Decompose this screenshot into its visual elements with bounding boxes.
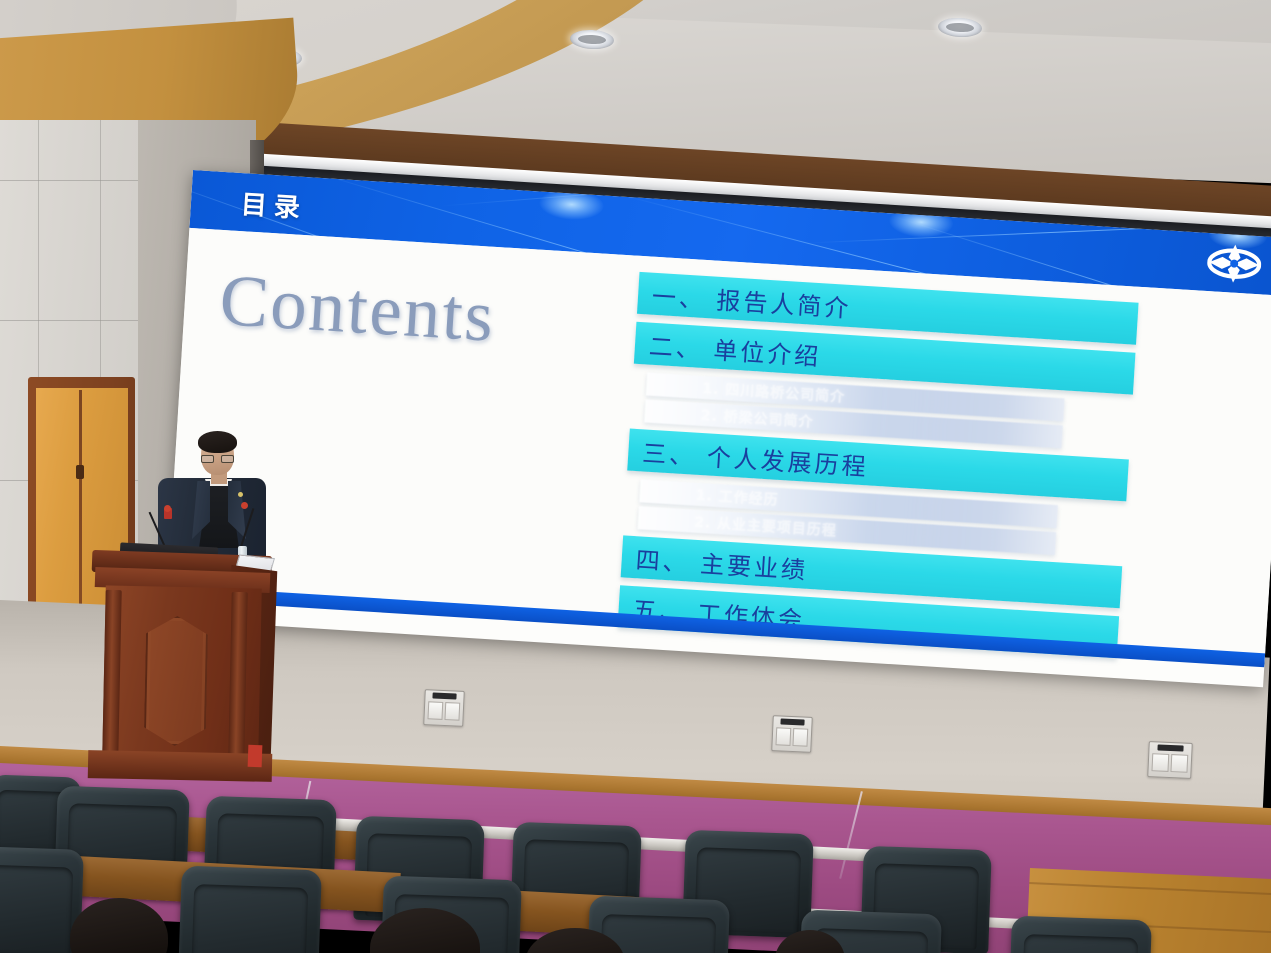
microphone-head (164, 505, 171, 512)
wall-outlet-panel[interactable] (423, 689, 465, 727)
door-handle[interactable] (76, 465, 84, 479)
toc-subitem-label: 2. 桥梁公司简介 (644, 401, 814, 431)
conference-hall-photo: 目录 Contents 一、 报告人简介 二、 单位介 (0, 0, 1271, 953)
auditorium-seat[interactable] (178, 866, 322, 953)
toc-subitem-label: 1. 工作经历 (639, 481, 779, 510)
contents-heading: Contents (217, 258, 497, 359)
lectern-hex-panel (144, 615, 209, 746)
toc-item-label: 四、 主要业绩 (621, 539, 809, 585)
slide-body: Contents 一、 报告人简介 二、 单位介绍 1. 四川路桥公司简介 2.… (166, 228, 1271, 667)
toc-item-label: 一、 报告人简介 (637, 275, 852, 323)
toc-item-label: 三、 个人发展历程 (627, 432, 869, 482)
auditorium-seat[interactable] (1008, 916, 1152, 953)
microphone-head (241, 502, 248, 509)
lectern-base (88, 750, 273, 782)
wall-outlet-panel[interactable] (771, 715, 813, 753)
floor-object (248, 745, 263, 767)
toc-item-label: 二、 单位介绍 (634, 325, 822, 371)
projection-screen: 目录 Contents 一、 报告人简介 二、 单位介 (165, 170, 1271, 687)
glasses-icon (201, 455, 234, 463)
speaker-lapel-pin (238, 492, 243, 497)
table-of-contents: 一、 报告人简介 二、 单位介绍 1. 四川路桥公司简介 2. 桥梁公司简介 三… (617, 272, 1139, 666)
wall-outlet-panel[interactable] (1147, 741, 1193, 779)
compass-cross-logo-icon (1206, 241, 1262, 286)
slide-header-title: 目录 (240, 184, 308, 225)
speaker-hair (198, 431, 237, 453)
